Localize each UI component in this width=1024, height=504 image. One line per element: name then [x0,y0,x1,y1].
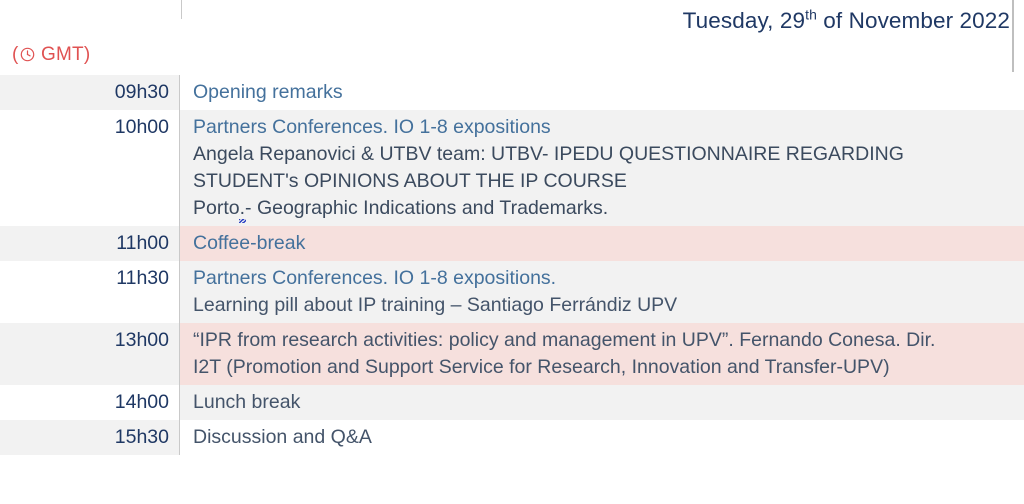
column-divider-top [181,0,182,19]
timezone-text: GMT) [36,44,91,65]
row-time: 11h00 [0,226,180,261]
date-ordinal-suffix: th [805,7,817,23]
row-time: 14h00 [0,385,180,420]
row-content: Coffee-break [180,226,1024,261]
row-content-line: Angela Repanovici & UTBV team: UTBV- IPE… [193,141,1016,168]
row-content: Partners Conferences. IO 1-8 expositions… [180,110,1024,226]
table-row: 13h00“IPR from research activities: poli… [0,323,1024,385]
timezone-open-paren: ( [12,44,19,65]
table-row: 15h30Discussion and Q&A [0,420,1024,455]
table-row: 11h30Partners Conferences. IO 1-8 exposi… [0,261,1024,323]
row-content-line: Partners Conferences. IO 1-8 expositions… [193,265,1016,292]
right-margin-rule [1012,0,1014,72]
agenda-header: Tuesday, 29th of November 2022 ( GMT) [0,0,1024,75]
row-content-line: Partners Conferences. IO 1-8 expositions [193,114,1016,141]
row-content-line: Porto.- Geographic Indications and Trade… [193,195,1016,222]
date-suffix: of November 2022 [817,8,1010,33]
row-time: 09h30 [0,75,180,110]
agenda-page: Tuesday, 29th of November 2022 ( GMT) 09… [0,0,1024,504]
clock-icon [20,46,35,68]
row-content: “IPR from research activities: policy an… [180,323,1024,385]
schedule-table: 09h30Opening remarks10h00Partners Confer… [0,75,1024,455]
row-time: 11h30 [0,261,180,323]
table-row: 09h30Opening remarks [0,75,1024,110]
row-content: Lunch break [180,385,1024,420]
row-content-line: Discussion and Q&A [193,424,1016,451]
row-time: 10h00 [0,110,180,226]
table-row: 10h00Partners Conferences. IO 1-8 exposi… [0,110,1024,226]
row-content-line: Learning pill about IP training – Santia… [193,292,1016,319]
date-prefix: Tuesday, 29 [683,8,805,33]
row-content-line: I2T (Promotion and Support Service for R… [193,354,1016,381]
row-time: 13h00 [0,323,180,385]
row-time: 15h30 [0,420,180,455]
row-content: Partners Conferences. IO 1-8 expositions… [180,261,1024,323]
timezone-label: ( GMT) [12,44,90,68]
page-title: Tuesday, 29th of November 2022 [683,8,1010,34]
table-row: 11h00Coffee-break [0,226,1024,261]
row-content-line: Lunch break [193,389,1016,416]
table-row: 14h00Lunch break [0,385,1024,420]
row-content: Discussion and Q&A [180,420,1024,455]
row-content-line: Coffee-break [193,230,1016,257]
row-content-line: STUDENT's OPINIONS ABOUT THE IP COURSE [193,168,1016,195]
row-content-line: Opening remarks [193,79,1016,106]
row-content-line: “IPR from research activities: policy an… [193,327,1016,354]
spellcheck-underline: . [240,195,245,222]
row-content: Opening remarks [180,75,1024,110]
